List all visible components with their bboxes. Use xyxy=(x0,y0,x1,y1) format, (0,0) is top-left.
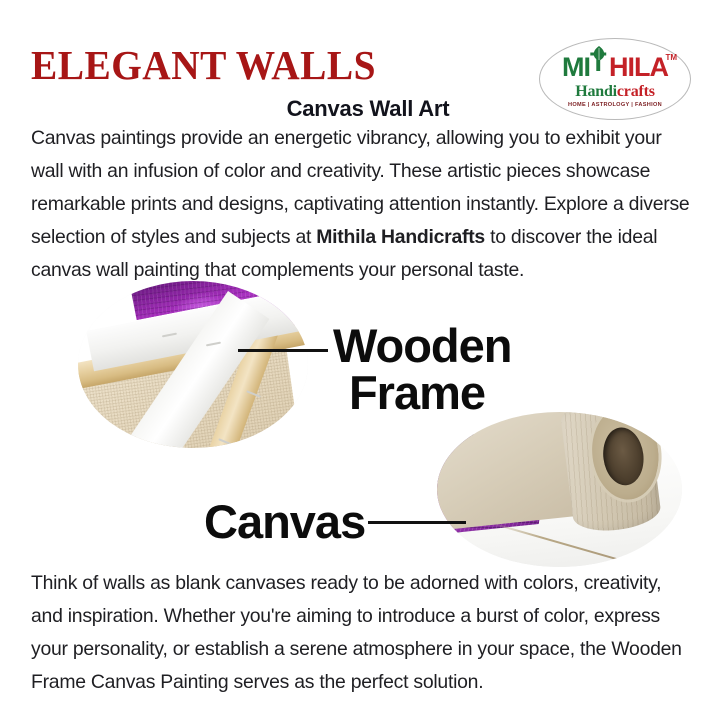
logo-wordmark: MI T HILA TM xyxy=(562,49,668,81)
logo-tagline: HOME | ASTROLOGY | FASHION xyxy=(568,102,662,108)
logo-text-hila: HILA xyxy=(609,54,668,81)
callout-canvas: Canvas xyxy=(204,498,365,545)
intro-paragraph: Canvas paintings provide an energetic vi… xyxy=(31,122,691,287)
leaf-icon xyxy=(592,46,606,61)
brand-mention: Mithila Handicrafts xyxy=(316,226,485,248)
logo-content: MI T HILA TM Handicrafts HOME | ASTROLOG… xyxy=(539,38,691,120)
leader-line-canvas xyxy=(368,521,466,524)
callout-wooden-line2: Frame xyxy=(333,369,501,416)
closing-paragraph: Think of walls as blank canvases ready t… xyxy=(31,567,691,699)
logo-subtext: Handicrafts xyxy=(575,83,655,100)
logo-subtext-crafts: crafts xyxy=(617,83,655,100)
mithila-handicrafts-logo: MI T HILA TM Handicrafts HOME | ASTROLOG… xyxy=(539,38,691,120)
callout-wooden-frame: Wooden Frame xyxy=(333,322,512,416)
trademark-icon: TM xyxy=(665,44,677,71)
logo-subtext-handi: Handi xyxy=(575,83,617,100)
callout-wooden-line1: Wooden xyxy=(333,319,512,372)
rolled-canvas-photo xyxy=(437,412,682,567)
logo-leaf-t-icon: T xyxy=(590,49,609,76)
wooden-frame-photo xyxy=(78,281,308,448)
leader-line-wooden-frame xyxy=(238,349,328,352)
logo-text-mi: MI xyxy=(562,54,590,81)
infographic-page: ELEGANT WALLS Canvas Wall Art MI T HILA … xyxy=(0,0,720,720)
page-title: ELEGANT WALLS xyxy=(31,43,376,87)
